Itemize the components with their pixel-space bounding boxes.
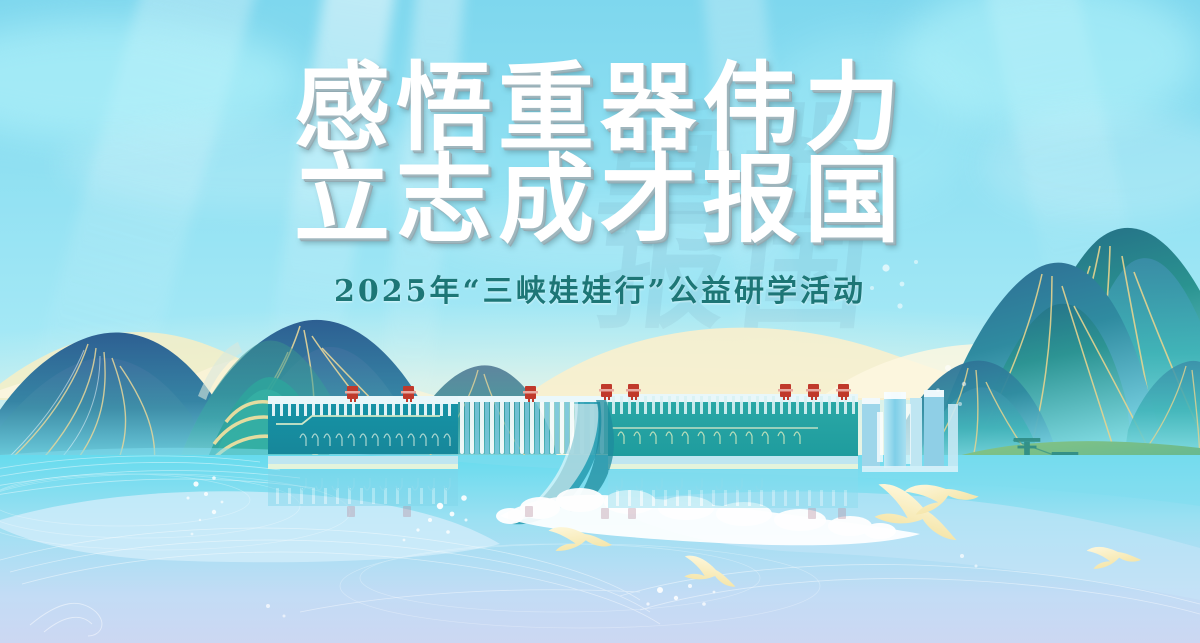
poster-canvas: 重器 报国 bbox=[0, 0, 1200, 643]
ship-lock-towers bbox=[862, 390, 958, 472]
title-line-2: 立志成才报国 bbox=[0, 154, 1200, 246]
poster-title-block: 感悟重器伟力 立志成才报国 2025年“三峡娃娃行”公益研学活动 bbox=[0, 62, 1200, 310]
title-line-1: 感悟重器伟力 bbox=[0, 62, 1200, 154]
poster-subtitle: 2025年“三峡娃娃行”公益研学活动 bbox=[0, 266, 1200, 310]
